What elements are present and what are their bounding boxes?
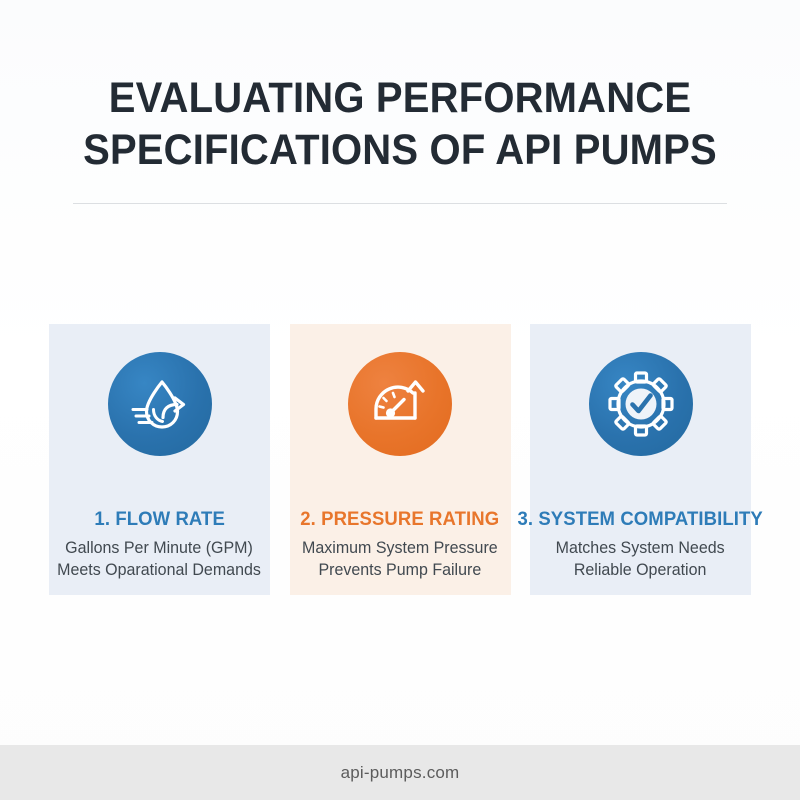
spec-card-pressure-rating: 2. PRESSURE RATING Maximum System Pressu…	[290, 324, 511, 595]
card-body: Maximum System Pressure Prevents Pump Fa…	[302, 537, 498, 581]
card-title: 2. PRESSURE RATING	[300, 508, 499, 530]
spec-card-flow-rate: 1. FLOW RATE Gallons Per Minute (GPM) Me…	[49, 324, 270, 595]
card-body: Matches System Needs Reliable Operation	[556, 537, 725, 581]
infographic-poster: EVALUATING PERFORMANCE SPECIFICATIONS OF…	[0, 0, 800, 800]
footer-bar: api-pumps.com	[0, 745, 800, 800]
title-divider	[73, 203, 727, 204]
spec-card-system-compatibility: 3. SYSTEM COMPATIBILITY Matches System N…	[530, 324, 751, 595]
water-drop-flow-icon	[108, 352, 212, 456]
gear-check-icon	[589, 352, 693, 456]
page-title: EVALUATING PERFORMANCE SPECIFICATIONS OF…	[0, 72, 800, 176]
card-body-line: Maximum System Pressure	[302, 537, 498, 559]
spec-cards-row: 1. FLOW RATE Gallons Per Minute (GPM) Me…	[49, 324, 751, 595]
card-body-line: Gallons Per Minute (GPM)	[58, 537, 262, 559]
card-title: 1. FLOW RATE	[94, 508, 224, 530]
card-body: Gallons Per Minute (GPM) Meets Oparation…	[58, 537, 262, 581]
footer-website[interactable]: api-pumps.com	[341, 763, 460, 783]
card-body-line: Reliable Operation	[556, 559, 725, 581]
card-body-line: Prevents Pump Failure	[302, 559, 498, 581]
card-body-line: Meets Oparational Demands	[58, 559, 262, 581]
pressure-gauge-icon	[348, 352, 452, 456]
card-title: 3. SYSTEM COMPATIBILITY	[518, 508, 763, 530]
title-line-1: EVALUATING PERFORMANCE	[28, 72, 772, 124]
title-line-2: SPECIFICATIONS OF API PUMPS	[28, 124, 772, 176]
card-body-line: Matches System Needs	[556, 537, 725, 559]
